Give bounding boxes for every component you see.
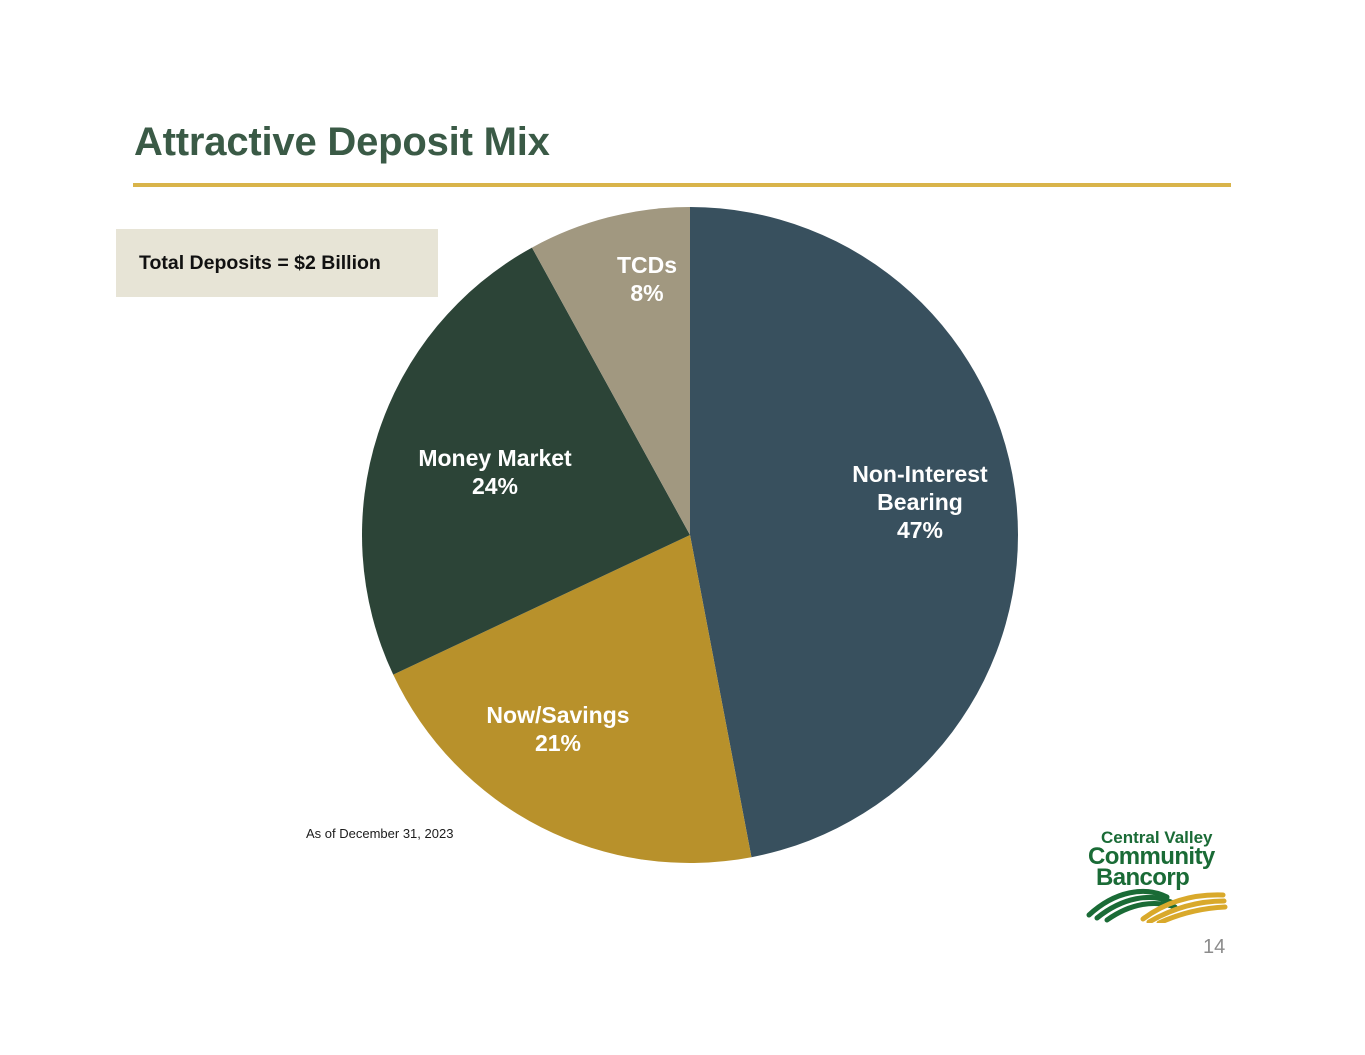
- title-divider: [133, 183, 1231, 187]
- page-title: Attractive Deposit Mix: [134, 120, 550, 165]
- page-number: 14: [1203, 936, 1225, 959]
- as-of-date-note: As of December 31, 2023: [306, 826, 453, 841]
- total-deposits-label: Total Deposits = $2 Billion: [139, 252, 381, 275]
- logo-swoosh-icon: [1089, 891, 1225, 923]
- logo-svg: Central Valley Community Bancorp: [1083, 823, 1228, 923]
- logo-text-bancorp: Bancorp: [1096, 864, 1189, 891]
- pie-slice-non-interest-bearing[interactable]: [690, 207, 1018, 857]
- pie-svg: [362, 207, 1018, 863]
- company-logo: Central Valley Community Bancorp: [1083, 823, 1228, 923]
- deposit-mix-pie-chart: [362, 207, 1018, 863]
